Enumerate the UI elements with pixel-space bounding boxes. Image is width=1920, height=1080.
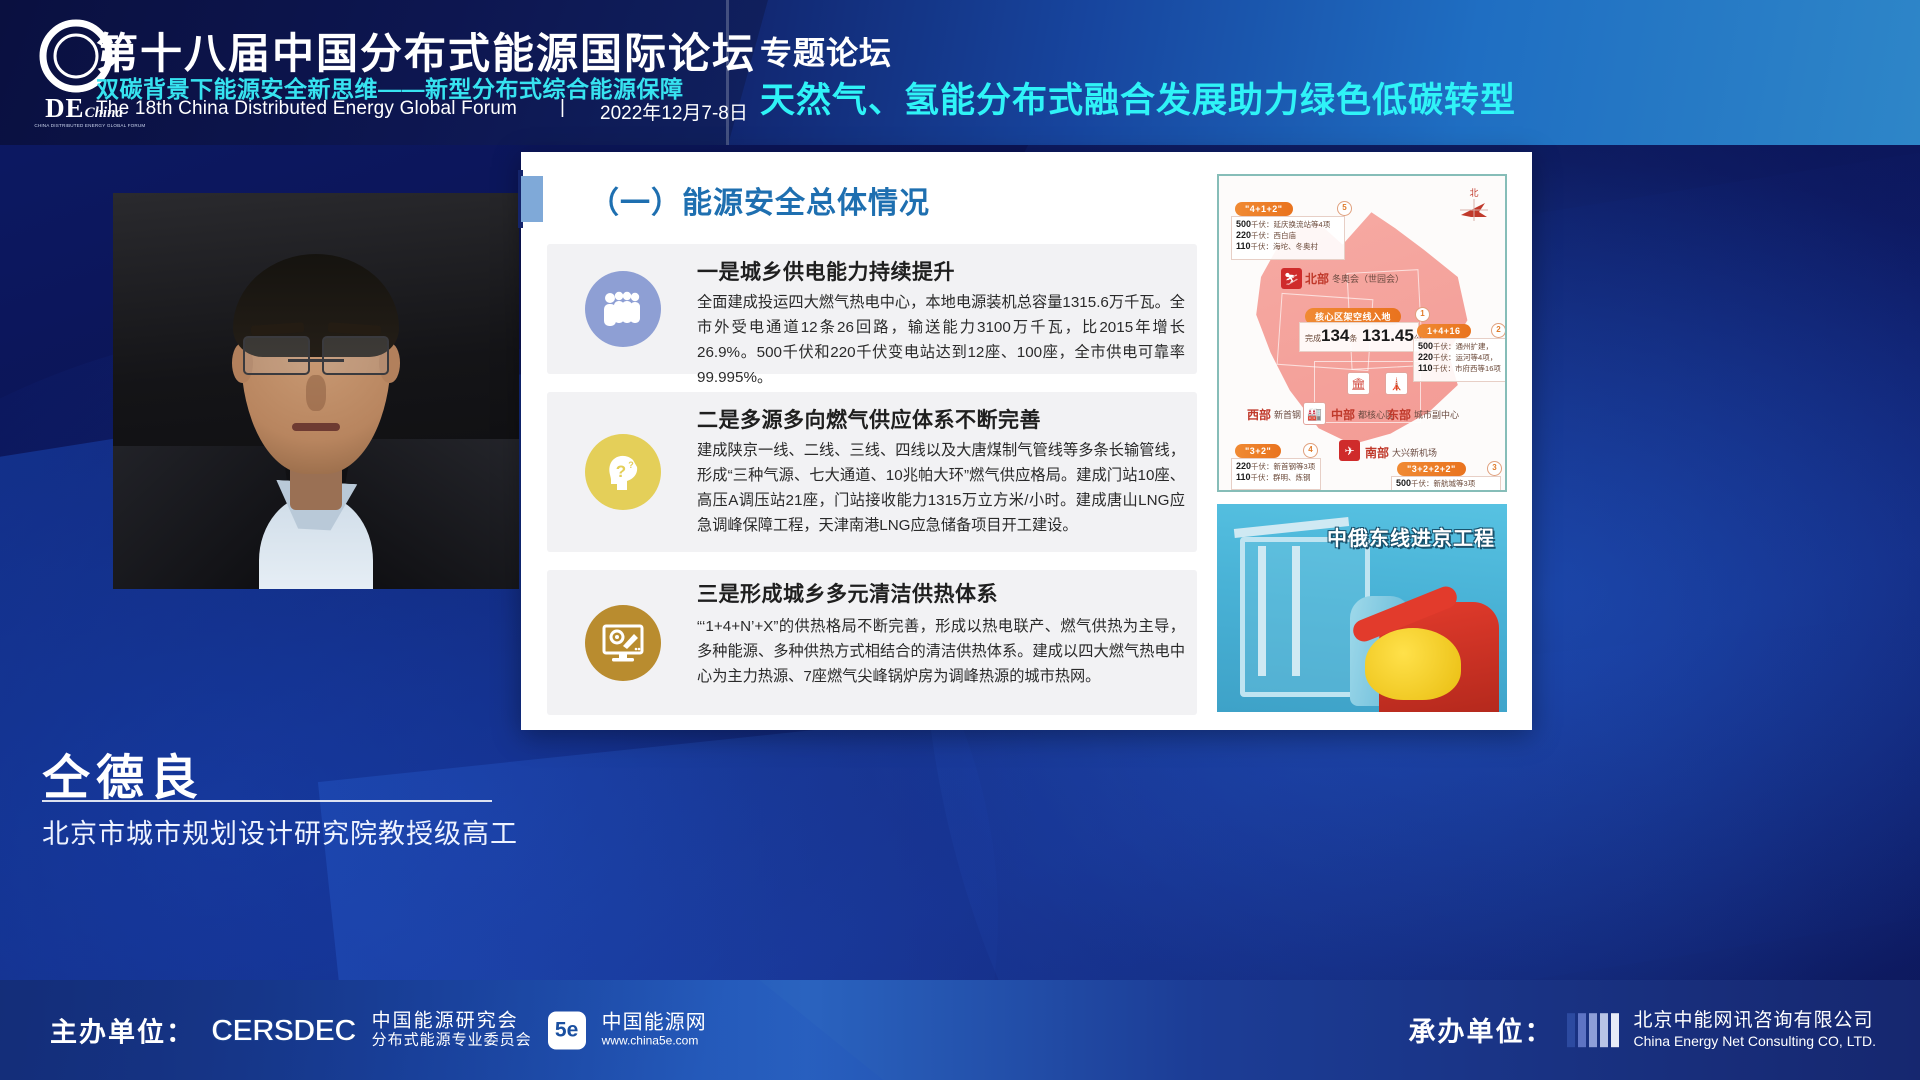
map-callout-3-line-1: 500千伏：新航城等3项	[1396, 478, 1475, 489]
organizer-name-block: 北京中能网讯咨询有限公司 China Energy Net Consulting…	[1633, 1010, 1876, 1050]
photo-pipe-2	[1292, 546, 1300, 676]
logo-sub-text: CHINA DISTRIBUTED ENERGY GLOBAL FORUM	[34, 123, 133, 129]
map-poi-south-main: 南部	[1365, 444, 1389, 461]
organizer-bars-icon	[1567, 1013, 1619, 1047]
map-core-done-label: 完成	[1305, 334, 1321, 343]
speaker-name: 仝德良	[42, 738, 204, 808]
footer-organizer-group: 承办单位： 北京中能网讯咨询有限公司 China Energy Net Cons…	[1408, 1010, 1876, 1050]
map-poi-east-main: 东部	[1387, 406, 1411, 423]
compass-icon: 北	[1457, 186, 1491, 220]
map-callout-2-tag: 1+4+16	[1417, 324, 1471, 338]
block-3-body: “‘1+4+N’+X”的供热格局不断完善，形成以热电联产、燃气供热为主导，多种能…	[697, 614, 1185, 689]
speaker-title: 北京市城市规划设计研究院教授级高工	[42, 812, 518, 851]
map-poi-south: 南部 大兴新机场	[1365, 444, 1437, 461]
map-callout-2-line-1: 500千伏：通州扩建，	[1418, 341, 1493, 352]
factory-icon: 🏭	[1303, 402, 1326, 425]
block-3-heading: 三是形成城乡多元清洁供热体系	[697, 578, 998, 608]
photo-glasses-bridge	[288, 359, 345, 362]
host-name-line-2: 分布式能源专业委员会	[372, 1032, 532, 1049]
photo-nose	[306, 375, 326, 411]
speaker-divider	[42, 800, 492, 802]
cersdec-logo: CERSDEC	[211, 1012, 356, 1048]
people-group-icon	[585, 271, 661, 347]
page-header: DEChina CHINA DISTRIBUTED ENERGY GLOBAL …	[0, 0, 1920, 145]
map-poi-center: 中部 都核心区	[1331, 406, 1394, 423]
host-name-line-1: 中国能源研究会	[372, 1011, 532, 1032]
organizer-name-cn: 北京中能网讯咨询有限公司	[1633, 1010, 1876, 1033]
header-pipe-separator: |	[560, 97, 565, 119]
block-2-heading: 二是多源多向燃气供应体系不断完善	[697, 404, 1041, 434]
host-label: 主办单位：	[50, 1011, 195, 1050]
slide-title-bar	[521, 176, 543, 222]
photo-caption: 中俄东线进京工程	[1327, 522, 1495, 551]
china5e-name-block: 中国能源网 www.china5e.com	[602, 1012, 707, 1049]
map-callout-5-number: 5	[1337, 201, 1352, 216]
speaker-photo	[113, 193, 519, 589]
map-poi-west-main: 西部	[1247, 406, 1271, 423]
slide-block-3: 三是形成城乡多元清洁供热体系 “‘1+4+N’+X”的供热格局不断完善，形成以热…	[547, 570, 1197, 715]
photo-mouth	[292, 423, 341, 432]
footer-host-group: 主办单位： CERSDEC 中国能源研究会 分布式能源专业委员会 5e 中国能源…	[50, 1011, 707, 1050]
map-callout-5-line-2: 220千伏：西白庙	[1236, 230, 1296, 241]
map-poi-east-sub: 城市副中心	[1414, 408, 1459, 421]
slide-frame: DEChina CHINA DISTRIBUTED ENERGY GLOBAL …	[0, 0, 1920, 1080]
map-core-values: 完成134条 131.45公里	[1305, 326, 1430, 346]
svg-text:?: ?	[616, 462, 626, 481]
compass-north-label: 北	[1457, 186, 1491, 199]
slide-title: （一）能源安全总体情况	[589, 178, 930, 222]
temple-icon: 🏛	[1347, 372, 1370, 395]
forum-date: 2022年12月7-8日	[600, 98, 748, 125]
map-callout-2-number: 2	[1491, 323, 1506, 338]
map-poi-west: 西部 新首钢	[1247, 406, 1301, 423]
map-core-length: 131.45	[1362, 326, 1414, 345]
map-callout-5-line-1: 500千伏：延庆换流站等4项	[1236, 219, 1330, 230]
map-poi-center-main: 中部	[1331, 406, 1355, 423]
presentation-slide: （一）能源安全总体情况 一是城乡供电能力持续提升 全面建成投运四大燃气热电中心，…	[521, 152, 1532, 730]
organizer-name-en: China Energy Net Consulting CO, LTD.	[1633, 1033, 1876, 1050]
block-1-heading: 一是城乡供电能力持续提升	[697, 256, 955, 286]
head-question-icon: ? ?	[585, 434, 661, 510]
page-footer: 主办单位： CERSDEC 中国能源研究会 分布式能源专业委员会 5e 中国能源…	[0, 980, 1920, 1080]
monitor-gear-icon	[585, 605, 661, 681]
map-poi-north-main: 北部	[1305, 270, 1329, 287]
china5e-logo-icon: 5e	[548, 1011, 586, 1049]
session-label: 专题论坛	[760, 28, 892, 74]
slide-block-2: ? ? 二是多源多向燃气供应体系不断完善 建成陕京一线、二线、三线、四线以及大唐…	[547, 392, 1197, 552]
map-poi-north-sub: 冬奥会（世园会）	[1332, 272, 1404, 285]
map-poi-north: ⛷ 北部 冬奥会（世园会）	[1281, 268, 1404, 289]
map-callout-4-tag: "3+2"	[1235, 444, 1281, 458]
block-1-body: 全面建成投运四大燃气热电中心，本地电源装机总容量1315.6万千瓦。全市外受电通…	[697, 290, 1185, 390]
skier-icon: ⛷	[1281, 268, 1302, 289]
organizer-label: 承办单位：	[1408, 1011, 1553, 1050]
airplane-icon: ✈	[1339, 440, 1360, 461]
map-callout-4-line-1: 220千伏：新首钢等3项	[1236, 461, 1315, 472]
session-title: 天然气、氢能分布式融合发展助力绿色低碳转型	[760, 72, 1516, 123]
beijing-power-map: 北 "4+1+2" 5 500千伏：延庆换流站等4项 220千伏：西白庙 110…	[1217, 174, 1507, 492]
map-poi-east: 东部 城市副中心	[1387, 406, 1459, 423]
map-core-number: 1	[1415, 307, 1430, 322]
svg-text:?: ?	[628, 460, 634, 470]
photo-pipe-1	[1258, 546, 1266, 676]
map-callout-5-tag: "4+1+2"	[1235, 202, 1293, 216]
photo-lens-right	[322, 336, 389, 376]
forum-title-en: The 18th China Distributed Energy Global…	[96, 98, 517, 120]
pipeline-project-photo: 中俄东线进京工程	[1217, 504, 1507, 712]
map-callout-2-line-2: 220千伏：运河等4项，	[1418, 352, 1497, 363]
map-callout-3-tag: "3+2+2+2"	[1397, 462, 1466, 476]
map-callout-2-line-3: 110千伏：市府西等16项	[1418, 363, 1501, 374]
map-core-count-unit: 条	[1349, 334, 1357, 343]
map-core-count: 134	[1321, 326, 1349, 345]
map-callout-4-line-2: 110千伏：群明、炼钢	[1236, 472, 1311, 483]
tower-icon: 🗼	[1385, 372, 1408, 395]
map-poi-south-sub: 大兴新机场	[1392, 446, 1437, 459]
map-callout-3-number: 3	[1487, 461, 1502, 476]
map-poi-west-sub: 新首钢	[1274, 408, 1301, 421]
photo-lens-left	[243, 336, 310, 376]
partner-url: www.china5e.com	[602, 1035, 707, 1049]
block-2-body: 建成陕京一线、二线、三线、四线以及大唐煤制气管线等多条长输管线，形成“三种气源、…	[697, 438, 1185, 538]
map-callout-5-line-3: 110千伏：海坨、冬奥村	[1236, 241, 1318, 252]
partner-name: 中国能源网	[602, 1012, 707, 1035]
host-name-block: 中国能源研究会 分布式能源专业委员会	[372, 1011, 532, 1049]
map-callout-4-number: 4	[1303, 443, 1318, 458]
photo-hard-hat	[1365, 628, 1461, 700]
photo-glasses	[243, 336, 389, 372]
logo-de-text: DE	[45, 93, 85, 123]
slide-block-1: 一是城乡供电能力持续提升 全面建成投运四大燃气热电中心，本地电源装机总容量131…	[547, 244, 1197, 374]
